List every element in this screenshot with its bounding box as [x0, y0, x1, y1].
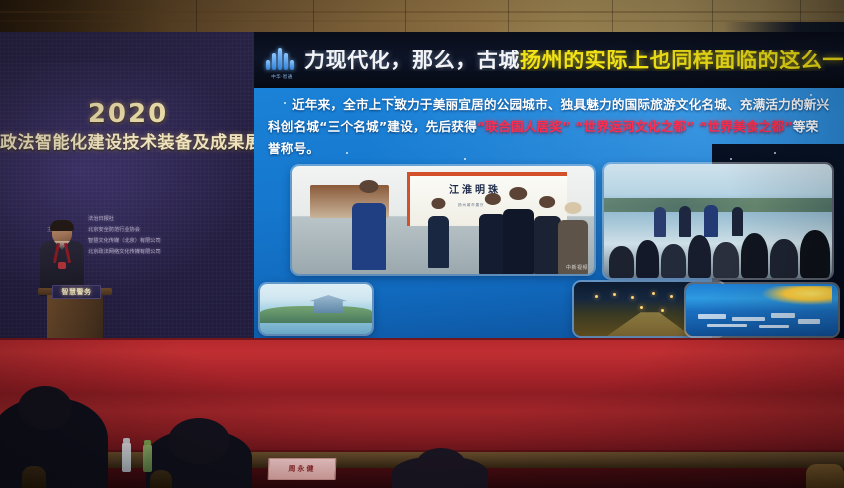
podium-body	[47, 295, 103, 341]
media-tile-garden	[260, 284, 372, 334]
logo-caption: 中华·智通	[260, 74, 304, 80]
speaker-badge	[58, 262, 66, 269]
scene-person	[534, 216, 561, 274]
slide-text-red-2: “世界运河文化之都”	[575, 119, 694, 134]
chair-back	[22, 466, 46, 488]
event-year: 2020	[0, 100, 256, 130]
event-title-block: 2020 政法智能化建设技术装备及成果展	[0, 100, 256, 153]
led-presentation-screen: 中华·智通 力现代化，那么，古城扬州的实际上也同样面临的这么一 近年来，全市上下…	[254, 32, 844, 340]
organizer-item: 智慧文化传媒（北京）有限公司	[88, 236, 238, 247]
scene-person	[503, 209, 533, 274]
scene-person	[679, 206, 690, 237]
name-placard: 周永健	[268, 458, 337, 480]
scene-classical-garden	[260, 284, 372, 334]
subtitle-segment-yellow: 扬州的实际上也同样面临的这么一	[520, 50, 844, 71]
scene-canal-aerial	[686, 284, 838, 336]
subtitle-segment-white: 力现代化，那么，古城	[304, 50, 520, 71]
scene-person	[704, 205, 718, 237]
scene-treeline	[604, 198, 832, 212]
conference-screenshot: 2020 政法智能化建设技术装备及成果展 主办单位 法治日报社 北京安全防范行业…	[0, 0, 844, 488]
water-bottle	[122, 442, 131, 472]
chair-back	[806, 464, 844, 488]
media-tile-lakeside	[604, 164, 832, 278]
subtitle-bar: 中华·智通 力现代化，那么，古城扬州的实际上也同样面临的这么一	[254, 32, 844, 88]
scene-person	[428, 216, 449, 268]
audience-head	[168, 418, 230, 464]
scene-lakeside	[604, 164, 832, 278]
subtitle-text: 力现代化，那么，古城扬州的实际上也同样面临的这么一	[304, 50, 844, 71]
scene-sun-glow	[762, 286, 832, 305]
video-watermark: 中新视频	[566, 264, 588, 271]
organizer-list: 法治日报社 北京安全防范行业协会 智慧文化传媒（北京）有限公司 北京政法网络文化…	[88, 214, 238, 258]
scene-crowd	[604, 223, 832, 278]
hall-ceiling-wall	[0, 0, 844, 34]
media-tile-exhibition: 江淮明珠 扬州城市展厅 中新视频	[292, 166, 594, 274]
organizer-item: 北京政法网络文化传媒有限公司	[88, 247, 238, 258]
sound-wave-logo-icon: 中华·智通	[260, 40, 304, 80]
scene-person	[479, 214, 506, 274]
slide-text-red-1: “联合国人居奖”	[477, 119, 571, 134]
audience-head	[416, 448, 466, 482]
scene-exhibition-hall: 江淮明珠 扬州城市展厅	[292, 166, 594, 274]
scene-person	[732, 207, 743, 236]
podium-sign: 智慧警务	[52, 285, 101, 299]
slide-text-red-3: “世界美食之都”	[699, 119, 793, 134]
organizer-item: 法治日报社	[88, 214, 238, 225]
chair-back	[150, 470, 172, 488]
presentation-slide: 近年来，全市上下致力于美丽宜居的公园城市、独具魅力的国际旅游文化名城、充满活力的…	[254, 88, 844, 340]
scene-pavilion	[309, 295, 347, 313]
water-bottle	[143, 444, 152, 472]
media-tile-canal-city	[686, 284, 838, 336]
speaker-at-podium	[40, 222, 84, 294]
backdrop-light-glow	[0, 62, 260, 302]
organizer-item: 北京安全防范行业协会	[88, 225, 238, 236]
stage-front-apron	[0, 338, 844, 396]
name-placard-text: 周永健	[288, 464, 315, 474]
speaker-hair	[50, 220, 74, 231]
tile-caption-sub: 扬州城市展厅	[458, 202, 484, 207]
podium-sign-text: 智慧警务	[62, 287, 92, 297]
scene-road	[607, 312, 691, 336]
scene-person	[352, 203, 385, 270]
scene-person	[654, 207, 665, 237]
audience-head	[18, 386, 72, 430]
event-name: 政法智能化建设技术装备及成果展	[0, 134, 256, 154]
